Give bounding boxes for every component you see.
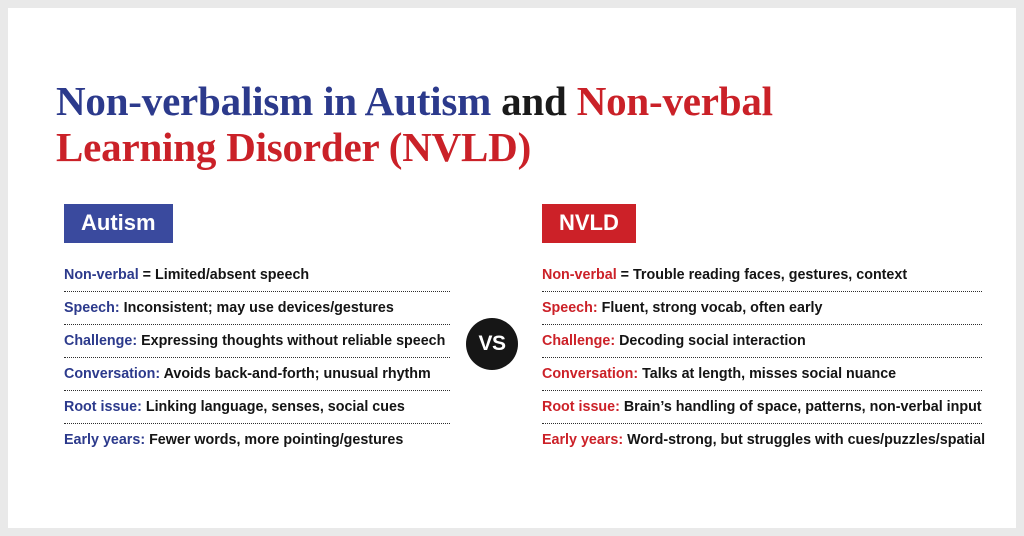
title-segment-and [491,78,501,124]
table-row: Early years: Fewer words, more pointing/… [64,425,450,455]
table-row: Speech: Fluent, strong vocab, often earl… [542,293,982,323]
row-label: Non-verbal [64,267,139,283]
row-label: Early years: [542,432,623,448]
row-label: Speech: [64,300,120,316]
rows-nvld: Non-verbal = Trouble reading faces, gest… [542,260,982,455]
row-label: Conversation: [542,366,638,382]
title-segment-nvld: Non-verbal [577,78,773,124]
rows-autism: Non-verbal = Limited/absent speech Speec… [64,260,450,455]
row-label: Speech: [542,300,598,316]
table-row: Challenge: Decoding social interaction [542,326,982,356]
vs-badge: VS [466,318,518,370]
row-divider [542,291,982,292]
row-label: Root issue: [64,399,142,415]
row-label: Non-verbal [542,267,617,283]
table-row: Speech: Inconsistent; may use devices/ge… [64,293,450,323]
row-value: Fluent, strong vocab, often early [602,300,823,316]
title-line-two: Learning Disorder (NVLD) [56,124,531,170]
row-value: Decoding social interaction [619,333,806,349]
badge-autism: Autism [64,204,173,243]
title-conjunction: and [501,78,567,124]
row-divider [64,423,450,424]
row-divider [64,390,450,391]
row-divider [64,357,450,358]
title-space [567,78,577,124]
row-value: Word-strong, but struggles with cues/puz… [627,432,985,448]
row-value: = Limited/absent speech [143,267,309,283]
row-value: Talks at length, misses social nuance [642,366,896,382]
row-label: Early years: [64,432,145,448]
row-divider [64,291,450,292]
row-value: Brain’s handling of space, patterns, non… [624,399,982,415]
row-divider [542,390,982,391]
table-row: Conversation: Avoids back-and-forth; unu… [64,359,450,389]
row-divider [542,423,982,424]
title-segment-autism: Non-verbalism in Autism [56,78,491,124]
table-row: Challenge: Expressing thoughts without r… [64,326,450,356]
row-label: Challenge: [64,333,137,349]
table-row: Non-verbal = Limited/absent speech [64,260,450,290]
column-autism: Autism Non-verbal = Limited/absent speec… [64,204,450,455]
row-value: Avoids back-and-forth; unusual rhythm [164,366,431,382]
table-row: Root issue: Brain’s handling of space, p… [542,392,982,422]
column-nvld: NVLD Non-verbal = Trouble reading faces,… [542,204,982,455]
row-value: Linking language, senses, social cues [146,399,405,415]
page-title: Non-verbalism in Autism and Non-verbal L… [56,78,956,170]
row-value: Expressing thoughts without reliable spe… [141,333,445,349]
table-row: Non-verbal = Trouble reading faces, gest… [542,260,982,290]
row-divider [64,324,450,325]
row-divider [542,324,982,325]
table-row: Conversation: Talks at length, misses so… [542,359,982,389]
row-label: Conversation: [64,366,160,382]
table-row: Early years: Word-strong, but struggles … [542,425,982,455]
infographic-canvas: Non-verbalism in Autism and Non-verbal L… [8,8,1016,528]
row-divider [542,357,982,358]
badge-nvld: NVLD [542,204,636,243]
row-value: Fewer words, more pointing/gestures [149,432,403,448]
row-label: Challenge: [542,333,615,349]
row-value: Inconsistent; may use devices/gestures [124,300,394,316]
table-row: Root issue: Linking language, senses, so… [64,392,450,422]
row-value: = Trouble reading faces, gestures, conte… [621,267,907,283]
row-label: Root issue: [542,399,620,415]
